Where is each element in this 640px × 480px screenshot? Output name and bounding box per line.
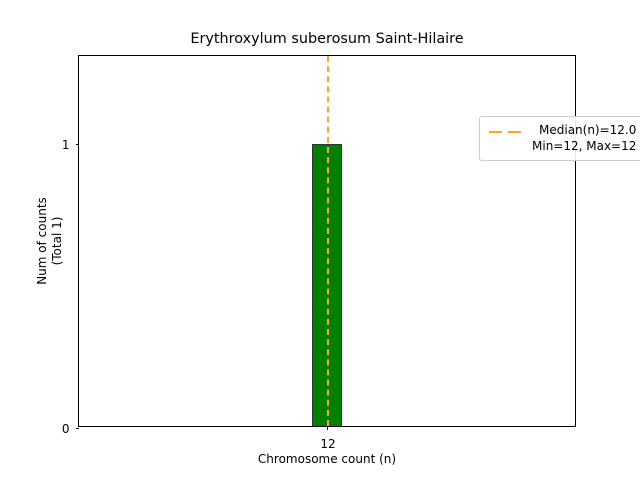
y-axis-label-line-2: (Total 1) [50, 217, 65, 266]
legend[interactable]: Median(n)=12.0 Min=12, Max=12 [479, 116, 640, 161]
chart-figure: Erythroxylum suberosum Saint-Hilaire 0 1… [0, 0, 640, 480]
plot-area: 0 1 12 Median(n)=12.0 Min=12, Max=12 [78, 55, 576, 427]
ytick-mark-0: 0 [76, 428, 80, 429]
legend-text: Median(n)=12.0 Min=12, Max=12 [532, 122, 636, 154]
legend-entry-minmax: Min=12, Max=12 [532, 138, 636, 154]
x-axis-label: Chromosome count (n) [78, 452, 576, 466]
chart-title: Erythroxylum suberosum Saint-Hilaire [78, 30, 576, 48]
y-axis-label: Num of counts (Total 1) [34, 55, 66, 427]
xtick-mark-12: 12 [327, 426, 328, 430]
y-axis-label-line-1: Num of counts [35, 197, 50, 285]
plot-inner [79, 56, 575, 426]
median-line [327, 56, 329, 426]
legend-entry-median: Median(n)=12.0 [539, 122, 636, 138]
legend-median-line-icon [488, 124, 524, 140]
xtick-label-12: 12 [320, 437, 335, 451]
